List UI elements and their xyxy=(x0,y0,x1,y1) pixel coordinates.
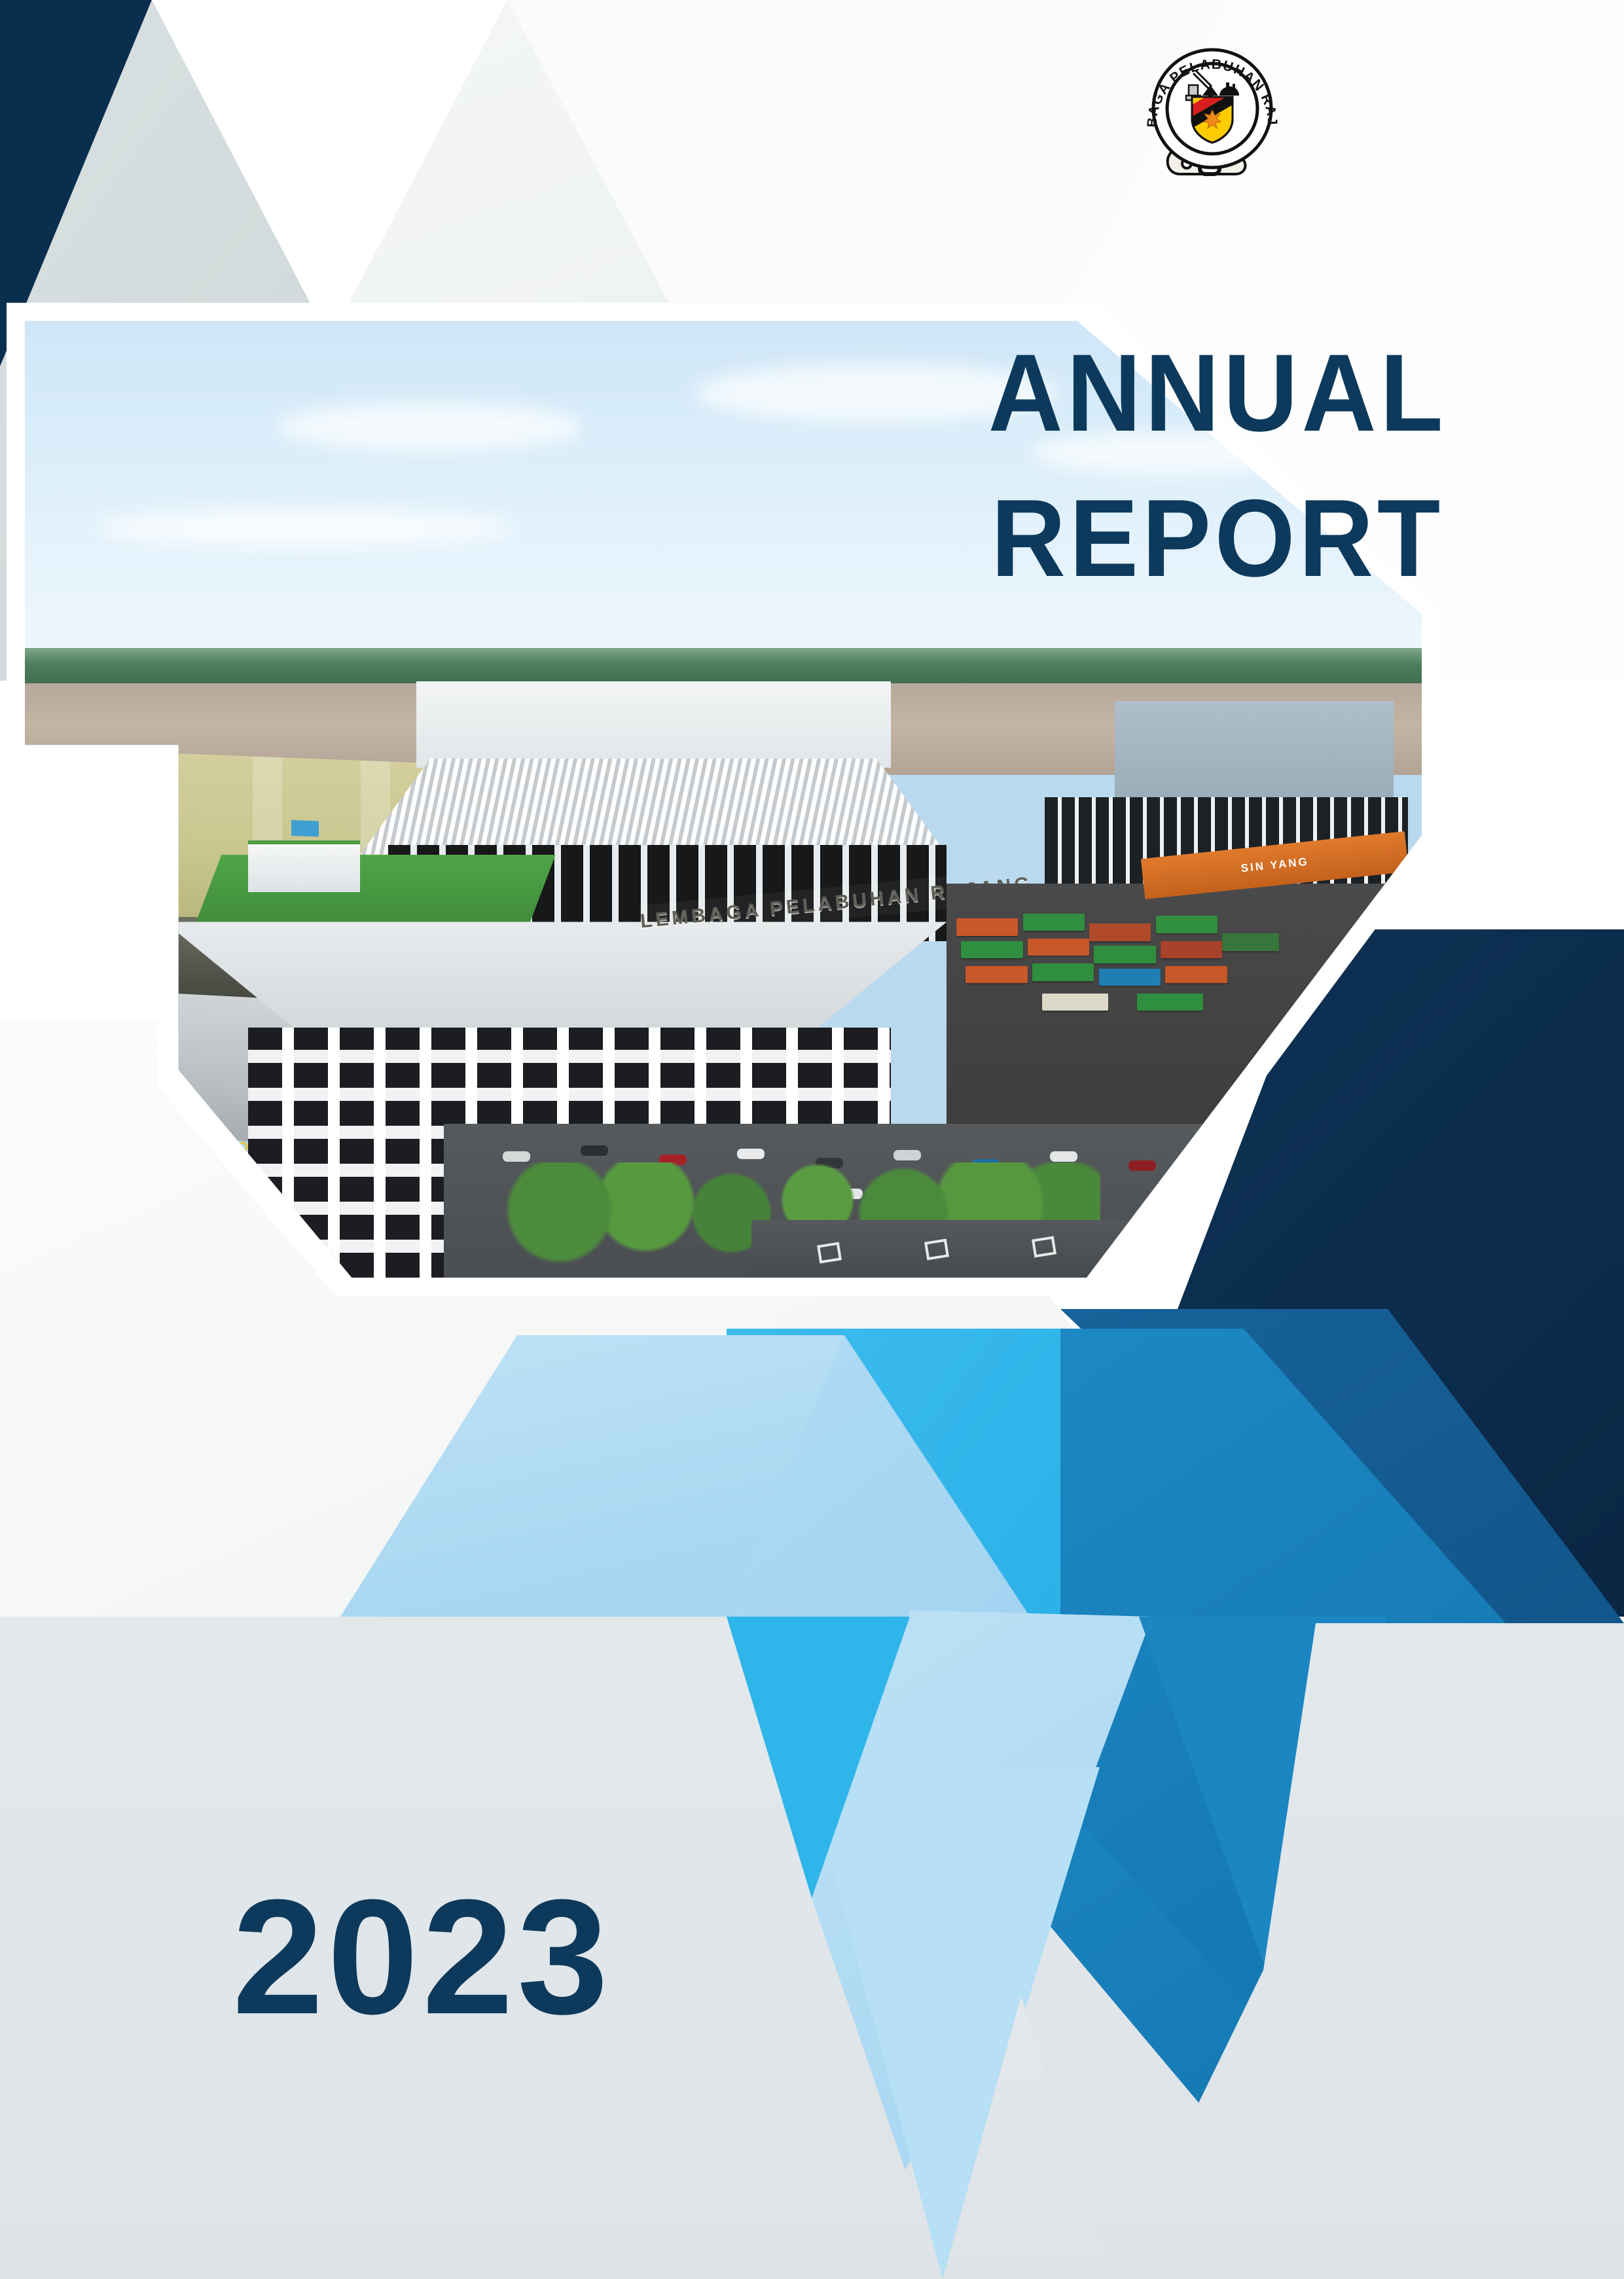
cover-title-block: ANNUAL REPORT xyxy=(969,321,1466,611)
photo-tower-upper-flare xyxy=(360,759,947,855)
photo-rooftop-hut xyxy=(248,840,360,892)
annual-report-cover-page: LEMBAGA PELABUHAN RAJANG xyxy=(0,0,1624,2279)
title-line-annual: ANNUAL xyxy=(984,321,1451,466)
cloud-4 xyxy=(95,509,514,547)
title-line-report: REPORT xyxy=(984,466,1451,611)
cover-year: 2023 xyxy=(232,1875,612,2039)
photo-tower-roofdeck xyxy=(416,681,892,768)
organisation-logo: LEMBAGA PELABUHAN RAJANG xyxy=(1137,39,1288,190)
photo-rooftop-garden xyxy=(192,855,556,932)
cloud-1 xyxy=(276,403,583,450)
